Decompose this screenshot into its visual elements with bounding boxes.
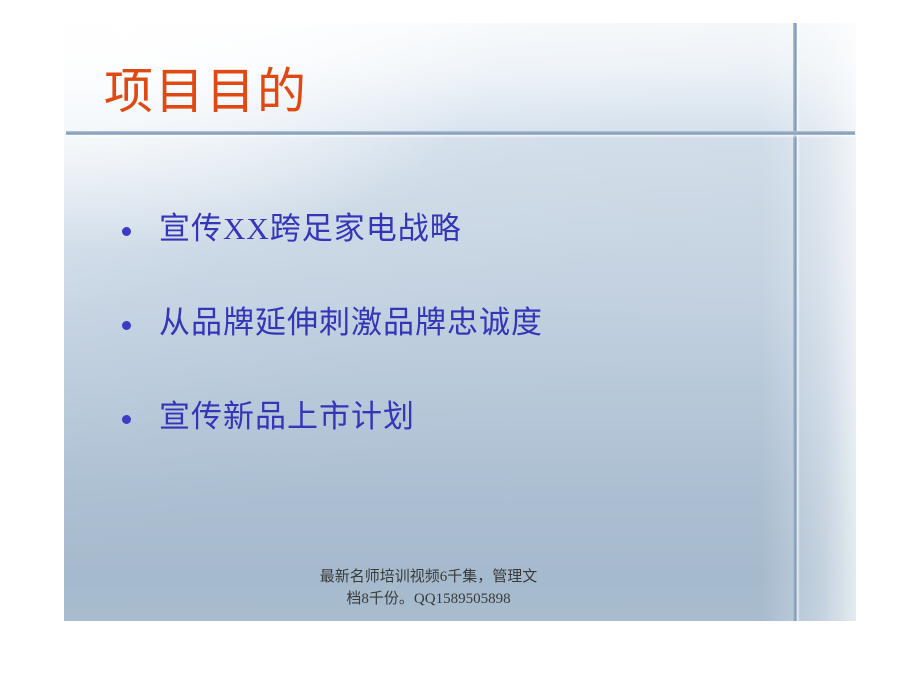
footer-note-line-1: 最新名师培训视频6千集，管理文 bbox=[64, 566, 793, 588]
bullet-dot-icon bbox=[122, 227, 131, 236]
bullet-item-label: 从品牌延伸刺激品牌忠诚度 bbox=[159, 302, 543, 344]
list-item: 宣传XX跨足家电战略 bbox=[122, 208, 762, 250]
bullet-list: 宣传XX跨足家电战略 从品牌延伸刺激品牌忠诚度 宣传新品上市计划 bbox=[122, 208, 762, 438]
list-item: 宣传新品上市计划 bbox=[122, 396, 762, 438]
bullet-item-label: 宣传新品上市计划 bbox=[159, 396, 415, 438]
bullet-item-label: 宣传XX跨足家电战略 bbox=[159, 208, 462, 250]
vertical-divider-highlight bbox=[797, 23, 800, 621]
bullet-dot-icon bbox=[122, 415, 131, 424]
horizontal-divider-highlight bbox=[66, 135, 855, 138]
footer-note-line-2: 档8千份。QQ1589505898 bbox=[64, 588, 793, 610]
footer-note: 最新名师培训视频6千集，管理文 档8千份。QQ1589505898 bbox=[64, 566, 793, 610]
list-item: 从品牌延伸刺激品牌忠诚度 bbox=[122, 302, 762, 344]
bullet-dot-icon bbox=[122, 321, 131, 330]
slide-title: 项目目的 bbox=[104, 64, 308, 120]
presentation-slide: 项目目的 宣传XX跨足家电战略 从品牌延伸刺激品牌忠诚度 宣传新品上市计划 最新… bbox=[0, 0, 920, 690]
